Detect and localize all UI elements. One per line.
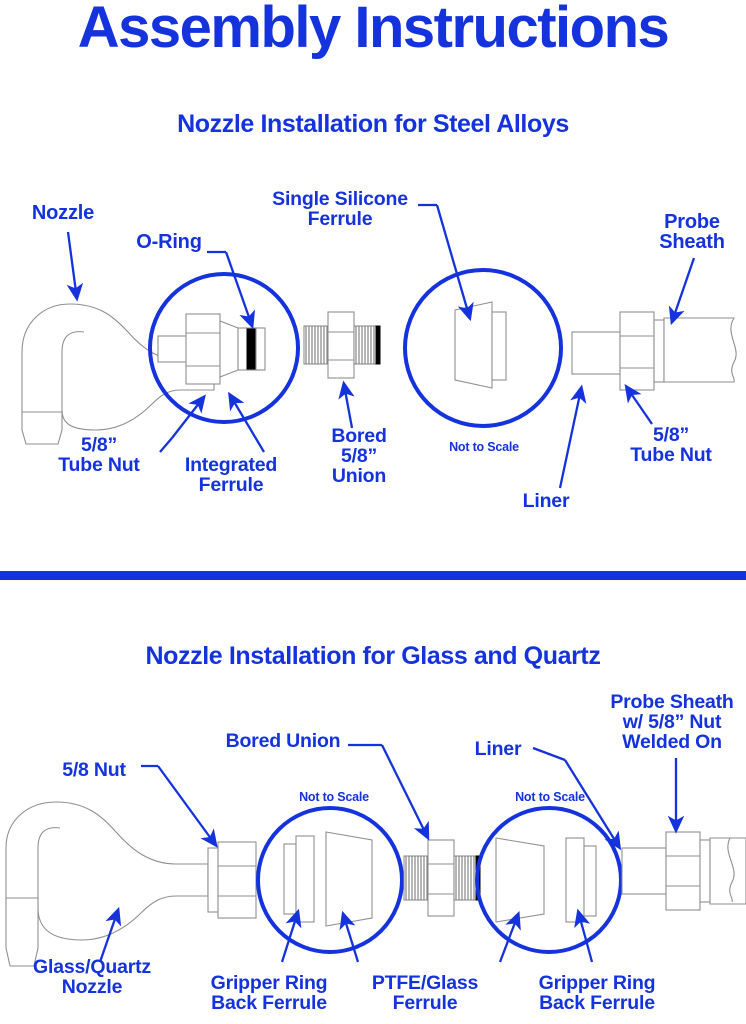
single-silicone-ferrule-part (455, 302, 506, 388)
ptfe-glass-ferrule-part (326, 832, 372, 926)
label-nut-58: 5/8 Nut (44, 761, 144, 781)
label-probe-sheath-welded: Probe Sheath w/ 5/8” Nut Welded On (598, 693, 746, 753)
nut-58-part (208, 842, 256, 918)
label-nozzle: Nozzle (8, 203, 118, 223)
liner-part (572, 332, 620, 374)
label-single-silicone-ferrule: Single Silicone Ferrule (260, 190, 420, 230)
label-liner-bottom: Liner (462, 740, 534, 760)
label-o-ring: O-Ring (124, 232, 214, 252)
liner-ferrule-part (496, 838, 544, 922)
not-to-scale-note-2: Not to Scale (278, 790, 390, 804)
section-divider (0, 571, 746, 580)
liner-probesheath-part (572, 312, 736, 390)
label-probe-sheath: Probe Sheath (637, 212, 746, 253)
probe-sheath-part (664, 318, 736, 382)
label-tube-nut-left: 5/8” Tube Nut (40, 436, 158, 476)
label-integrated-ferrule: Integrated Ferrule (168, 456, 294, 496)
tube-nut-right-part (620, 312, 654, 390)
gripper-ring-back-ferrule-left-part (284, 836, 314, 922)
nozzle-part (22, 304, 214, 444)
gripper-ring-back-ferrule-right-part (566, 838, 596, 922)
technical-drawing-layer: .pt{fill:none;stroke:#8f8f8f;stroke-widt… (0, 0, 746, 1024)
o-ring-band (247, 329, 256, 369)
label-gripper-ring-back-ferrule-left: Gripper Ring Back Ferrule (196, 974, 342, 1014)
label-glass-quartz-nozzle: Glass/Quartz Nozzle (12, 958, 172, 998)
label-ptfe-glass-ferrule: PTFE/Glass Ferrule (358, 974, 492, 1014)
probe-sheath-welded-part (622, 832, 746, 910)
label-bored-union: Bored 5/8” Union (316, 427, 402, 487)
bored-union-bottom-part (404, 840, 480, 916)
not-to-scale-note-3: Not to Scale (494, 790, 606, 804)
label-bored-union-bottom: Bored Union (214, 732, 352, 752)
liner-stub-right (622, 848, 666, 894)
bored-union-part (304, 312, 380, 378)
label-gripper-ring-back-ferrule-right: Gripper Ring Back Ferrule (524, 974, 670, 1014)
assembly-instructions-sheet: Assembly Instructions Nozzle Installatio… (0, 0, 746, 1024)
welded-nut-part (666, 832, 700, 910)
label-liner: Liner (498, 492, 594, 512)
label-tube-nut-right: 5/8” Tube Nut (612, 426, 730, 466)
not-to-scale-note-1: Not to Scale (428, 440, 540, 454)
